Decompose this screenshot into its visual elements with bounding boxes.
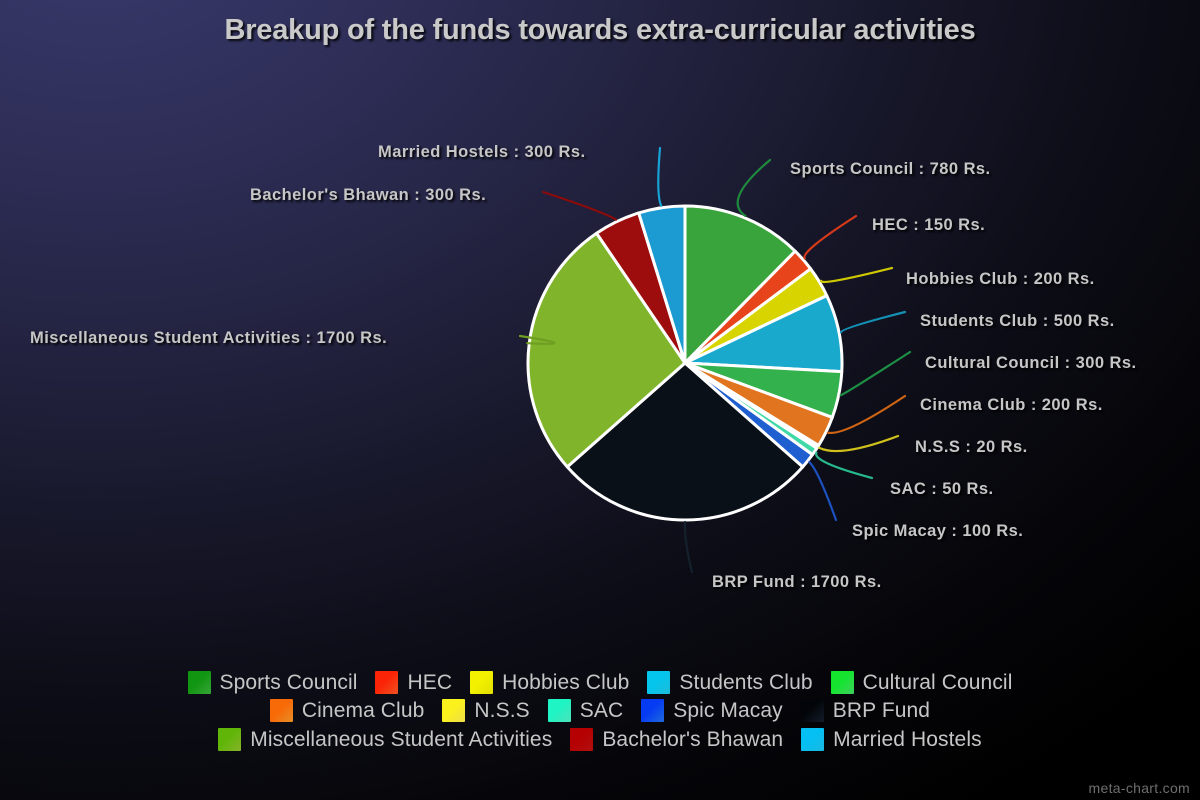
callout-students-club: Students Club : 500 Rs.: [920, 313, 1115, 330]
legend-item-label: Students Club: [679, 672, 812, 693]
callout-miscellaneous: Miscellaneous Student Activities : 1700 …: [30, 330, 387, 347]
legend-swatch-icon: [188, 671, 211, 694]
legend-swatch-icon: [570, 728, 593, 751]
legend-item[interactable]: Hobbies Club: [470, 671, 629, 694]
callout-cinema-club: Cinema Club : 200 Rs.: [920, 397, 1103, 414]
legend-item[interactable]: Sports Council: [188, 671, 358, 694]
legend-item[interactable]: Spic Macay: [641, 699, 783, 722]
legend-item[interactable]: Students Club: [647, 671, 812, 694]
legend-swatch-icon: [548, 699, 571, 722]
legend-swatch-icon: [801, 699, 824, 722]
legend-swatch-icon: [442, 699, 465, 722]
leader-line: [828, 396, 905, 433]
legend-swatch-icon: [801, 728, 824, 751]
legend-item[interactable]: Cultural Council: [831, 671, 1013, 694]
callout-sac: SAC : 50 Rs.: [890, 481, 994, 498]
legend-row: Cinema ClubN.S.SSACSpic MacayBRP Fund: [0, 697, 1200, 726]
pie-chart-figure: Breakup of the funds towards extra-curri…: [0, 0, 1200, 800]
callout-sports-council: Sports Council : 780 Rs.: [790, 161, 991, 178]
pie-slices-group: [528, 206, 842, 520]
callout-married-hostels: Married Hostels : 300 Rs.: [378, 144, 586, 161]
callout-bachelors-bhawan: Bachelor's Bhawan : 300 Rs.: [250, 187, 486, 204]
legend-item[interactable]: SAC: [548, 699, 623, 722]
legend-item-label: Sports Council: [220, 672, 358, 693]
callout-cultural-council: Cultural Council : 300 Rs.: [925, 355, 1137, 372]
legend-item[interactable]: BRP Fund: [801, 699, 930, 722]
leader-line: [658, 148, 661, 206]
legend-swatch-icon: [470, 671, 493, 694]
legend: Sports CouncilHECHobbies ClubStudents Cl…: [0, 668, 1200, 754]
legend-item-label: Miscellaneous Student Activities: [250, 729, 552, 750]
leader-line: [804, 216, 856, 258]
callout-brp-fund: BRP Fund : 1700 Rs.: [712, 574, 882, 591]
legend-item-label: Bachelor's Bhawan: [602, 729, 783, 750]
legend-item[interactable]: Miscellaneous Student Activities: [218, 728, 552, 751]
watermark: meta-chart.com: [1089, 780, 1190, 796]
legend-item-label: N.S.S: [474, 700, 529, 721]
legend-row: Miscellaneous Student ActivitiesBachelor…: [0, 725, 1200, 754]
legend-item[interactable]: Cinema Club: [270, 699, 425, 722]
leader-line: [738, 160, 770, 216]
legend-swatch-icon: [831, 671, 854, 694]
leader-line: [685, 522, 692, 572]
legend-item[interactable]: Married Hostels: [801, 728, 982, 751]
legend-item-label: Married Hostels: [833, 729, 982, 750]
leader-line: [819, 436, 898, 451]
legend-item-label: Hobbies Club: [502, 672, 629, 693]
legend-item[interactable]: HEC: [375, 671, 452, 694]
legend-swatch-icon: [641, 699, 664, 722]
plot-area: Married Hostels : 300 Rs. Bachelor's Bha…: [0, 0, 1200, 660]
legend-item-label: Cinema Club: [302, 700, 425, 721]
leader-line: [543, 192, 616, 220]
legend-item[interactable]: N.S.S: [442, 699, 529, 722]
legend-item[interactable]: Bachelor's Bhawan: [570, 728, 783, 751]
legend-item-label: BRP Fund: [833, 700, 930, 721]
callout-hobbies-club: Hobbies Club : 200 Rs.: [906, 271, 1095, 288]
legend-swatch-icon: [270, 699, 293, 722]
legend-item-label: SAC: [580, 700, 623, 721]
leader-line: [809, 462, 836, 520]
leader-line: [821, 268, 892, 282]
legend-swatch-icon: [647, 671, 670, 694]
legend-item-label: Cultural Council: [863, 672, 1013, 693]
legend-swatch-icon: [218, 728, 241, 751]
callout-spic-macay: Spic Macay : 100 Rs.: [852, 523, 1023, 540]
legend-item-label: HEC: [407, 672, 452, 693]
leader-line: [841, 312, 905, 332]
legend-row: Sports CouncilHECHobbies ClubStudents Cl…: [0, 668, 1200, 697]
legend-swatch-icon: [375, 671, 398, 694]
leader-line: [816, 453, 872, 478]
callout-nss: N.S.S : 20 Rs.: [915, 439, 1028, 456]
leader-line: [841, 352, 910, 395]
legend-item-label: Spic Macay: [673, 700, 783, 721]
callout-hec: HEC : 150 Rs.: [872, 217, 985, 234]
